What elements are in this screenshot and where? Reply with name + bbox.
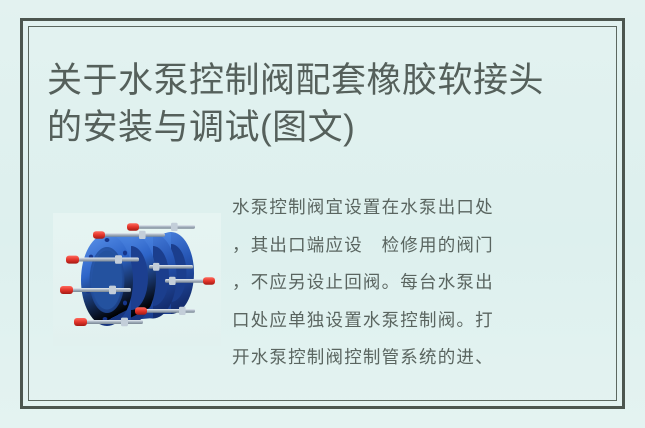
coupling-assembly [60,223,215,326]
article-body: 水泵控制阀宜设置在水泵出口处 ，其出口端应设 检修用的阀门 ，不应另设止回阀。每… [232,190,587,378]
pipe-coupling-illustration [53,213,221,346]
page-title: 关于水泵控制阀配套橡胶软接头 的安装与调试(图文) [47,57,607,151]
tie-bolt-upper-right [127,223,195,231]
title-line-1: 关于水泵控制阀配套橡胶软接头 [47,57,607,104]
article-line: 水泵控制阀宜设置在水泵出口处 [232,190,587,228]
article-line: ，不应另设止回阀。每台水泵出 [232,265,587,303]
article-line: 口处应单独设置水泵控制阀。打 [232,303,587,341]
poster-canvas: 关于水泵控制阀配套橡胶软接头 的安装与调试(图文) [0,0,645,428]
title-line-2: 的安装与调试(图文) [47,104,607,151]
product-photo [53,213,221,346]
article-line: ，其出口端应设 检修用的阀门 [232,228,587,266]
flange-ring-front [81,234,133,326]
article-line: 开水泵控制阀控制管系统的进、 [232,340,587,378]
